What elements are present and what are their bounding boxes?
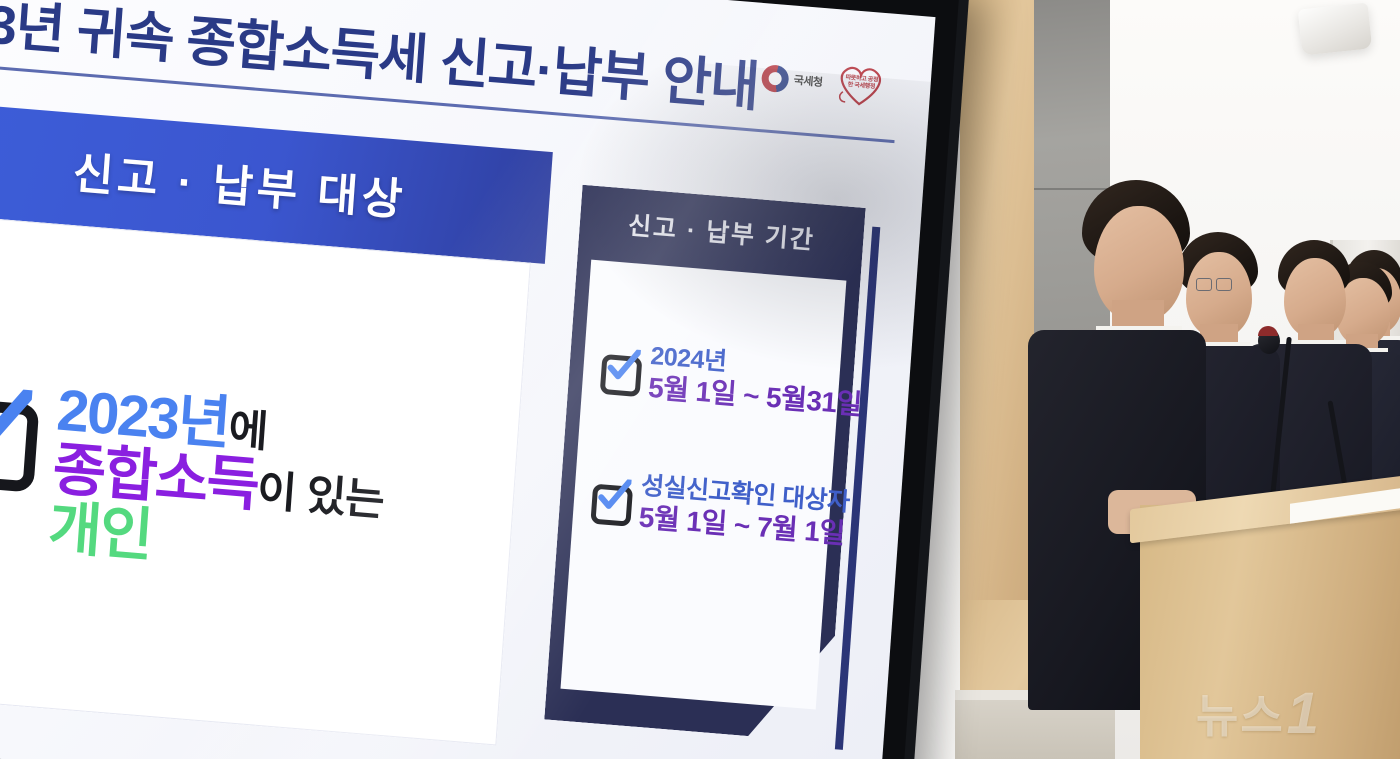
taegeuk-icon	[761, 64, 790, 93]
line1-tail: 에	[227, 406, 269, 457]
heart-logo-label: 따뜻하고 공정한 국세행정	[843, 75, 880, 92]
checkbox-checked-icon	[589, 478, 632, 521]
presentation-slide: 23년 귀속 종합소득세 신고·납부 안내 국세청 따뜻하고 공정한 국세행정	[0, 0, 935, 759]
display-screen: 23년 귀속 종합소득세 신고·납부 안내 국세청 따뜻하고 공정한 국세행정	[0, 0, 970, 759]
line3-main: 개인	[46, 495, 153, 568]
left-card-header-label: 신고 · 납부 대상	[71, 137, 409, 228]
watermark-suffix: 1	[1287, 680, 1321, 747]
left-card-content: 2023년에 종합소득이 있는 개인	[0, 371, 390, 584]
left-card-text: 2023년에 종합소득이 있는 개인	[47, 380, 391, 584]
card-filing-period: 신고 · 납부 기간 2024년 5월 1일 ~ 5월31일	[543, 185, 882, 759]
nts-logo: 국세청	[761, 64, 824, 96]
press-briefing-photo: 23년 귀속 종합소득세 신고·납부 안내 국세청 따뜻하고 공정한 국세행정	[0, 0, 1400, 759]
news1-watermark: 뉴스1	[1196, 682, 1386, 744]
line2-tail: 이 있는	[256, 467, 386, 525]
card-filing-target: 신고 · 납부 대상 2023년에	[0, 101, 553, 746]
nts-logo-label: 국세청	[793, 72, 823, 90]
screen-bezel-inner: 23년 귀속 종합소득세 신고·납부 안내 국세청 따뜻하고 공정한 국세행정	[0, 0, 959, 759]
checkbox-checked-icon	[598, 349, 641, 392]
watermark-text: 뉴스	[1196, 680, 1285, 746]
microphone-icon	[1268, 336, 1274, 516]
checkbox-checked-icon	[0, 387, 32, 478]
heart-logo: 따뜻하고 공정한 국세행정	[833, 61, 888, 109]
right-card-header-label: 신고 · 납부 기간	[627, 206, 816, 257]
